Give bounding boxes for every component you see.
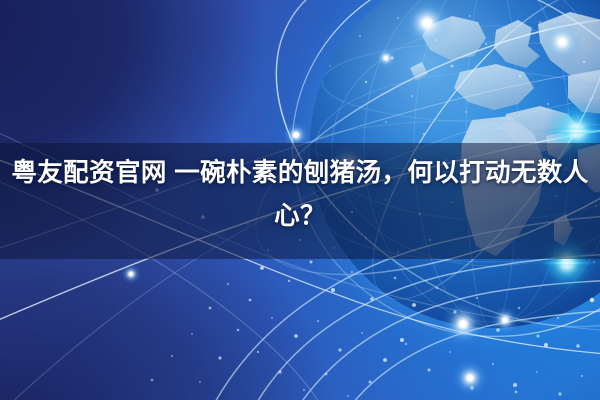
page-title: 粤友配资官网 一碗朴素的刨猪汤，何以打动无数人心？	[6, 152, 594, 238]
banner-image: 粤友配资官网 一碗朴素的刨猪汤，何以打动无数人心？	[0, 0, 600, 400]
